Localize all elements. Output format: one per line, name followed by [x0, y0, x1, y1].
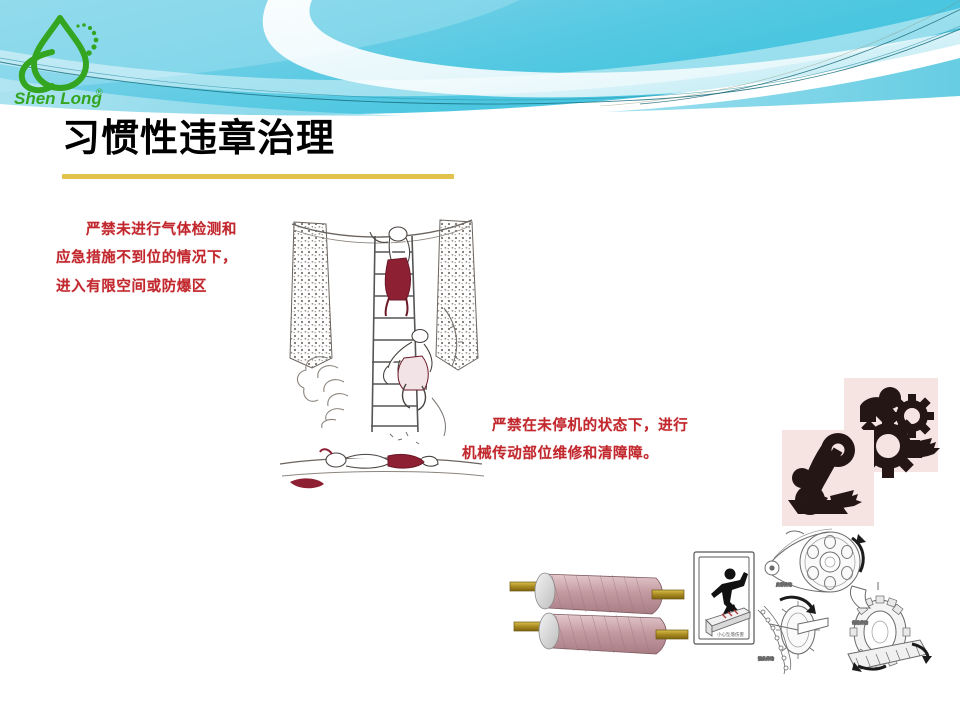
- belt-pulley-entanglement-pictogram: [782, 430, 874, 526]
- svg-text:Shen Long: Shen Long: [14, 89, 102, 108]
- warning-text-confined-space: 严禁未进行气体检测和 应急措施不到位的情况下， 进入有限空间或防爆区: [56, 216, 237, 301]
- title-underline-rule: [62, 174, 454, 179]
- warning-line: 机械传动部位维修和清障障。: [462, 440, 688, 468]
- warning-line: 严禁未进行气体检测和: [56, 216, 237, 244]
- gear-mesh-drawing: 齿轮传动: [848, 582, 932, 672]
- water-drop-leaf-icon: [22, 18, 99, 90]
- slide: Shen Long ® Shen Long 习惯性违章治理 严禁未进行气体检测和…: [0, 0, 960, 720]
- fall-hazard-sign: 小心坠落伤害: [694, 552, 754, 644]
- machinery-hazard-pictograms: [782, 378, 958, 530]
- roller-nip-point-illustration: 小心坠落伤害: [508, 548, 758, 664]
- warning-line: 进入有限空间或防爆区: [56, 273, 237, 301]
- logo-wordmark: Shen Long ®: [14, 87, 103, 108]
- power-transmission-illustration: 皮带传动: [752, 528, 958, 680]
- drawing-caption: 皮带传动: [776, 581, 792, 587]
- warning-line: 应急措施不到位的情况下，: [56, 244, 237, 272]
- title-block: 习惯性违章治理: [62, 120, 482, 179]
- page-title: 习惯性违章治理: [62, 120, 482, 160]
- shen-long-logo: Shen Long ® Shen Long: [8, 12, 116, 108]
- drawing-caption: 齿轮传动: [852, 619, 868, 625]
- chain-sprocket-drawing: 链条传动: [758, 597, 828, 674]
- belt-pulley-drawing: 皮带传动: [765, 529, 866, 592]
- drawing-caption: 链条传动: [758, 655, 774, 661]
- warning-text-machinery: 严禁在未停机的状态下，进行 机械传动部位维修和清障障。: [462, 412, 688, 469]
- theme-header-band: [0, 0, 960, 118]
- svg-text:®: ®: [96, 87, 103, 97]
- sign-caption: 小心坠落伤害: [717, 631, 744, 638]
- warning-line: 严禁在未停机的状态下，进行: [462, 412, 688, 440]
- confined-space-fall-illustration: [272, 208, 492, 500]
